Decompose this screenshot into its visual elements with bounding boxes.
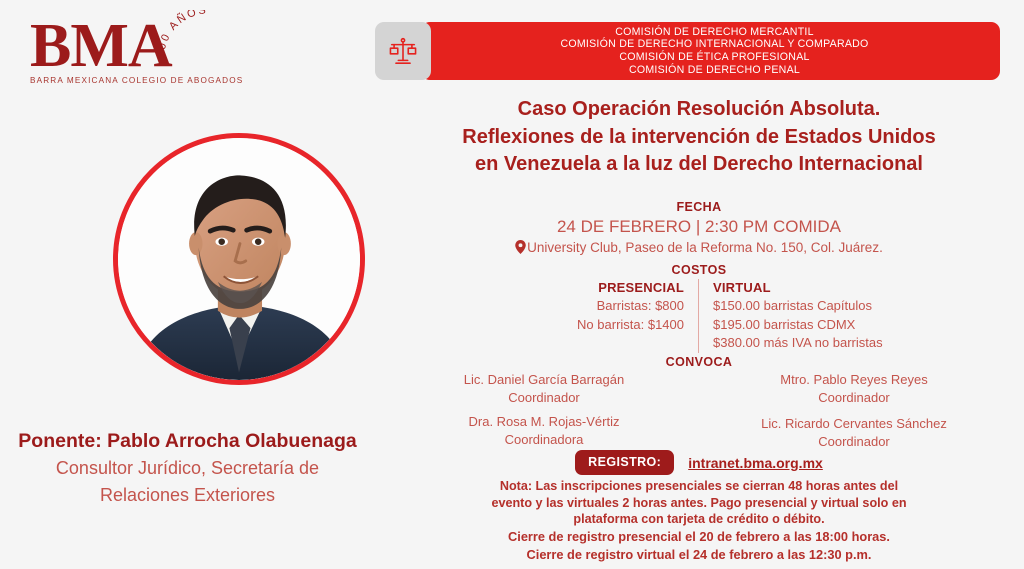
event-title: Caso Operación Resolución Absoluta. Refl… [389, 96, 1009, 179]
registration-deadlines: Cierre de registro presencial el 20 de f… [389, 528, 1009, 564]
event-title-line-3: en Venezuela a la luz del Derecho Intern… [389, 151, 1009, 179]
costs-virtual-item-2: $195.00 barristas CDMX [713, 316, 885, 335]
convoca-person-role: Coordinadora [389, 431, 699, 449]
deadline-line-2: Cierre de registro virtual el 24 de febr… [389, 546, 1009, 564]
date-heading: FECHA [389, 200, 1009, 214]
commission-line-3: COMISIÓN DE ÉTICA PROFESIONAL [619, 51, 809, 64]
costs-columns: PRESENCIAL Barristas: $800 No barrista: … [389, 279, 1009, 353]
convoca-person-role: Coordinador [389, 389, 699, 407]
speaker-info: Ponente: Pablo Arrocha Olabuenaga Consul… [0, 428, 375, 508]
bma-logo: BMA 100 AÑOS BARRA MEXICANA COLEGIO DE A… [30, 14, 240, 98]
costs-virtual-item-1: $150.00 barristas Capítulos [713, 297, 885, 316]
convoca-person-name: Mtro. Pablo Reyes Reyes [699, 371, 1009, 389]
costs-presencial-label: PRESENCIAL [513, 279, 684, 297]
convoca-left-column: Lic. Daniel García Barragán Coordinador … [389, 371, 699, 457]
convoca-person-name: Lic. Ricardo Cervantes Sánchez [699, 415, 1009, 433]
convoca-person: Lic. Ricardo Cervantes Sánchez Coordinad… [699, 415, 1009, 450]
logo-wordmark: BMA [30, 14, 240, 78]
convoca-right-column: Mtro. Pablo Reyes Reyes Coordinador Lic.… [699, 371, 1009, 457]
convoca-person-name: Dra. Rosa M. Rojas-Vértiz [389, 413, 699, 431]
registro-label-badge: REGISTRO: [575, 450, 674, 475]
speaker-role-line-1: Consultor Jurídico, Secretaría de [14, 456, 361, 481]
speaker-portrait-illustration [118, 138, 360, 380]
scales-icon-glyph [388, 36, 418, 66]
commission-line-2: COMISIÓN DE DERECHO INTERNACIONAL Y COMP… [560, 38, 868, 51]
commission-line-1: COMISIÓN DE DERECHO MERCANTIL [615, 26, 814, 39]
event-location: University Club, Paseo de la Reforma No.… [527, 240, 883, 255]
convoca-person: Mtro. Pablo Reyes Reyes Coordinador [699, 371, 1009, 406]
event-location-row: University Club, Paseo de la Reforma No.… [389, 238, 1009, 259]
event-date: 24 DE FEBRERO | 2:30 PM COMIDA [389, 215, 1009, 238]
map-pin-icon [515, 240, 526, 259]
speaker-role-line-2: Relaciones Exteriores [14, 483, 361, 508]
event-title-line-2: Reflexiones de la intervención de Estado… [389, 124, 1009, 152]
costs-presencial-item-2: No barrista: $1400 [513, 316, 684, 335]
event-poster: BMA 100 AÑOS BARRA MEXICANA COLEGIO DE A… [0, 0, 1024, 569]
commissions-list: COMISIÓN DE DERECHO MERCANTIL COMISIÓN D… [421, 22, 1000, 80]
convoca-section: CONVOCA Lic. Daniel García Barragán Coor… [389, 355, 1009, 457]
logo-subtitle: BARRA MEXICANA COLEGIO DE ABOGADOS [30, 76, 240, 85]
convoca-grid: Lic. Daniel García Barragán Coordinador … [389, 371, 1009, 457]
convoca-person-name: Lic. Daniel García Barragán [389, 371, 699, 389]
speaker-photo [113, 133, 365, 385]
right-column: COMISIÓN DE DERECHO MERCANTIL COMISIÓN D… [375, 0, 1024, 569]
date-section: FECHA 24 DE FEBRERO | 2:30 PM COMIDA Uni… [389, 200, 1009, 259]
costs-presencial-column: PRESENCIAL Barristas: $800 No barrista: … [513, 279, 699, 353]
costs-section: COSTOS PRESENCIAL Barristas: $800 No bar… [389, 263, 1009, 353]
convoca-person: Dra. Rosa M. Rojas-Vértiz Coordinadora [389, 413, 699, 448]
commission-line-4: COMISIÓN DE DERECHO PENAL [629, 64, 800, 77]
convoca-person: Lic. Daniel García Barragán Coordinador [389, 371, 699, 406]
convoca-person-role: Coordinador [699, 389, 1009, 407]
costs-presencial-item-1: Barristas: $800 [513, 297, 684, 316]
costs-heading: COSTOS [389, 263, 1009, 277]
costs-virtual-label: VIRTUAL [713, 279, 885, 297]
costs-virtual-item-3: $380.00 más IVA no barristas [713, 334, 885, 353]
registration-note: Nota: Las inscripciones presenciales se … [389, 478, 1009, 528]
convoca-heading: CONVOCA [389, 355, 1009, 369]
registration-url-link[interactable]: intranet.bma.org.mx [688, 455, 823, 471]
deadline-line-1: Cierre de registro presencial el 20 de f… [389, 528, 1009, 546]
costs-virtual-column: VIRTUAL $150.00 barristas Capítulos $195… [699, 279, 885, 353]
map-pin-glyph [515, 240, 526, 254]
registration-row: REGISTRO: intranet.bma.org.mx [389, 450, 1009, 475]
note-line-2: evento y las virtuales 2 horas antes. Pa… [389, 495, 1009, 512]
note-line-1: Nota: Las inscripciones presenciales se … [389, 478, 1009, 495]
event-title-line-1: Caso Operación Resolución Absoluta. [389, 96, 1009, 124]
left-column: BMA 100 AÑOS BARRA MEXICANA COLEGIO DE A… [0, 0, 375, 569]
note-line-3: plataforma con tarjeta de crédito o débi… [389, 511, 1009, 528]
convoca-person-role: Coordinador [699, 433, 1009, 451]
scales-of-justice-icon [375, 22, 431, 80]
commissions-banner: COMISIÓN DE DERECHO MERCANTIL COMISIÓN D… [375, 22, 1000, 80]
speaker-name: Ponente: Pablo Arrocha Olabuenaga [14, 428, 361, 454]
